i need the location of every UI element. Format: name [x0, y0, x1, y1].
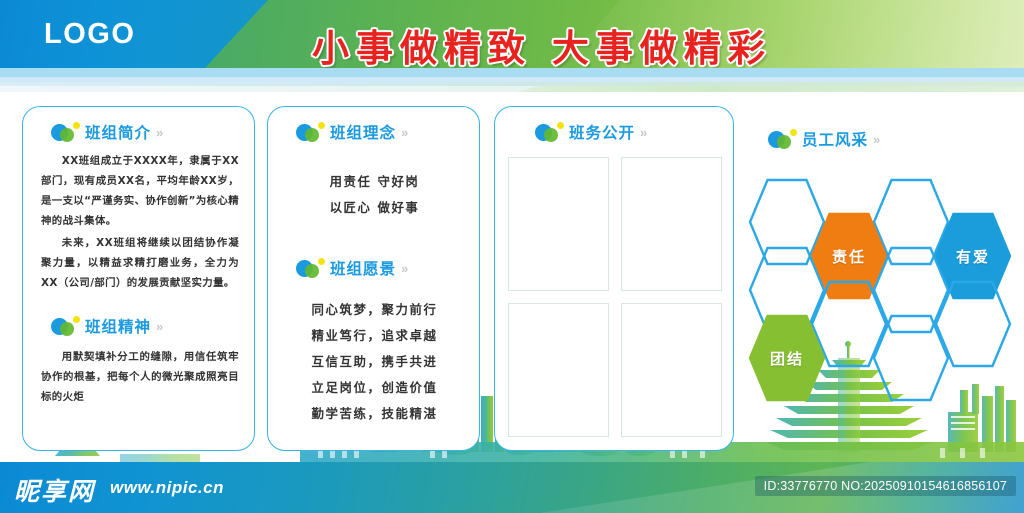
team-spirit-body: 用默契填补分工的缝隙，用信任筑牢协作的根基，把每个人的微光聚成照亮目标的火炬 [41, 347, 239, 409]
photo-placeholder[interactable] [508, 303, 609, 437]
section-header-team-affairs: 班务公开 » [535, 121, 645, 143]
team-vision-line: 同心筑梦，聚力前行 [268, 297, 481, 323]
brand-url: www.nipic.cn [110, 478, 224, 498]
section-title-team-affairs: 班务公开 [569, 121, 635, 143]
brand-name: 昵享网 [14, 472, 95, 508]
photo-placeholder[interactable] [621, 157, 722, 291]
panel-team-idea: 班组理念 » 用责任 守好岗 以匠心 做好事 班组愿景 » 同心筑梦，聚力前行 … [267, 106, 480, 451]
section-title-team-spirit: 班组精神 [85, 315, 151, 337]
team-vision-line: 精业笃行，追求卓越 [268, 323, 481, 349]
hexagon-label: 团结 [748, 314, 826, 402]
team-intro-body: XX班组成立于XXXX年，隶属于XX部门，现有成员XX名，平均年龄XX岁，是一支… [41, 151, 239, 295]
chevron-right-icon: » [156, 319, 161, 334]
photo-placeholder-grid [508, 157, 722, 437]
section-title-team-intro: 班组简介 [85, 121, 151, 143]
team-idea-line: 用责任 守好岗 [268, 169, 481, 195]
chevron-right-icon: » [401, 125, 406, 140]
team-intro-paragraph: 未来，XX班组将继续以团结协作凝聚力量，以精益求精打磨业务，全力为XX（公司/部… [41, 233, 239, 293]
hexagon-label [872, 314, 950, 402]
chevron-right-icon: » [640, 125, 645, 140]
team-idea-lines: 用责任 守好岗 以匠心 做好事 [268, 169, 481, 221]
team-vision-line: 勤学苦练，技能精湛 [268, 401, 481, 427]
section-title-team-idea: 班组理念 [330, 121, 396, 143]
hexagon-label [810, 144, 888, 232]
team-idea-line: 以匠心 做好事 [268, 195, 481, 221]
panel-team-intro: 班组简介 » XX班组成立于XXXX年，隶属于XX部门，现有成员XX名，平均年龄… [22, 106, 255, 451]
panel-team-affairs: 班务公开 » [494, 106, 734, 451]
section-header-team-spirit: 班组精神 » [51, 315, 161, 337]
hexagon-cell[interactable] [872, 314, 950, 402]
circles-logo-icon [296, 122, 328, 142]
hexagon-cell-unity[interactable]: 团结 [748, 314, 826, 402]
team-intro-paragraph: XX班组成立于XXXX年，隶属于XX部门，现有成员XX名，平均年龄XX岁，是一支… [41, 151, 239, 231]
team-vision-line: 立足岗位，创造价值 [268, 375, 481, 401]
poster-canvas: LOGO 小事做精致 大事做精彩 [0, 0, 1024, 513]
circles-logo-icon [296, 258, 328, 278]
team-vision-lines: 同心筑梦，聚力前行 精业笃行，追求卓越 互信互助，携手共进 立足岗位，创造价值 … [268, 297, 481, 427]
asset-id-badge: ID:33776770 NO:20250910154616856107 [755, 476, 1016, 496]
header-banner: LOGO 小事做精致 大事做精彩 [0, 0, 1024, 68]
page-title: 小事做精致 大事做精彩 [0, 18, 1024, 68]
circles-logo-icon [51, 316, 83, 336]
photo-placeholder[interactable] [621, 303, 722, 437]
team-vision-line: 互信互助，携手共进 [268, 349, 481, 375]
circles-logo-icon [535, 122, 567, 142]
team-spirit-paragraph: 用默契填补分工的缝隙，用信任筑牢协作的根基，把每个人的微光聚成照亮目标的火炬 [41, 347, 239, 407]
section-title-team-vision: 班组愿景 [330, 257, 396, 279]
chevron-right-icon: » [401, 261, 406, 276]
ribbon-strip-light-blue [0, 68, 1024, 77]
footer-bar: 昵享网 www.nipic.cn ID:33776770 NO:20250910… [0, 462, 1024, 513]
chevron-right-icon: » [156, 125, 161, 140]
section-header-team-intro: 班组简介 » [51, 121, 161, 143]
photo-placeholder[interactable] [508, 157, 609, 291]
circles-logo-icon [51, 122, 83, 142]
section-header-team-vision: 班组愿景 » [296, 257, 406, 279]
hexagon-grid: 责任 有爱 团结 [748, 178, 1020, 393]
section-header-team-idea: 班组理念 » [296, 121, 406, 143]
circles-logo-icon [768, 129, 800, 149]
